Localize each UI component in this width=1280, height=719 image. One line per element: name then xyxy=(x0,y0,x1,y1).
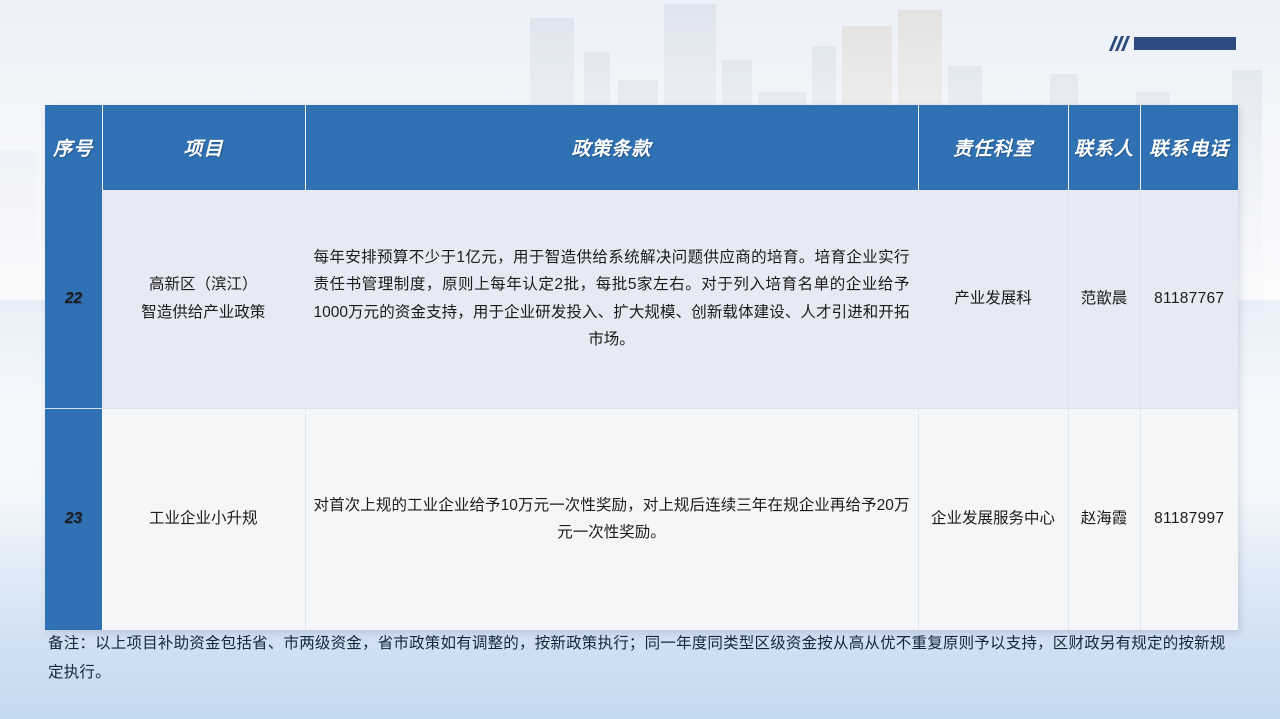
row-contact-phone: 81187767 xyxy=(1140,190,1238,408)
column-header-contact-phone: 联系电话 xyxy=(1140,105,1238,190)
navy-bar-icon xyxy=(1134,37,1236,50)
row-department: 企业发展服务中心 xyxy=(918,408,1068,630)
table-header-row: 序号 项目 政策条款 责任科室 联系人 联系电话 xyxy=(45,105,1238,190)
row-policy-terms: 每年安排预算不少于1亿元，用于智造供给系统解决问题供应商的培育。培育企业实行责任… xyxy=(305,190,918,408)
policy-table: 序号 项目 政策条款 责任科室 联系人 联系电话 22 高新区（滨江） 智造供给… xyxy=(45,105,1238,630)
slash-marks-icon xyxy=(1109,36,1130,51)
table-row: 23 工业企业小升规 对首次上规的工业企业给予10万元一次性奖励，对上规后连续三… xyxy=(45,408,1238,630)
column-header-seq: 序号 xyxy=(45,105,102,190)
table-header: 序号 项目 政策条款 责任科室 联系人 联系电话 xyxy=(45,105,1238,190)
row-department: 产业发展科 xyxy=(918,190,1068,408)
column-header-contact-person: 联系人 xyxy=(1068,105,1140,190)
project-name-line-2: 智造供给产业政策 xyxy=(141,304,265,321)
row-sequence-number: 22 xyxy=(45,190,102,408)
row-contact-person: 范歆晨 xyxy=(1068,190,1140,408)
row-project-name: 高新区（滨江） 智造供给产业政策 xyxy=(102,190,305,408)
column-header-policy: 政策条款 xyxy=(305,105,918,190)
column-header-department: 责任科室 xyxy=(918,105,1068,190)
table-body: 22 高新区（滨江） 智造供给产业政策 每年安排预算不少于1亿元，用于智造供给系… xyxy=(45,190,1238,630)
table-row: 22 高新区（滨江） 智造供给产业政策 每年安排预算不少于1亿元，用于智造供给系… xyxy=(45,190,1238,408)
row-project-name: 工业企业小升规 xyxy=(102,408,305,630)
corner-decoration xyxy=(1112,36,1236,51)
policy-table-container: 序号 项目 政策条款 责任科室 联系人 联系电话 22 高新区（滨江） 智造供给… xyxy=(45,105,1238,630)
row-contact-person: 赵海霞 xyxy=(1068,408,1140,630)
row-sequence-number: 23 xyxy=(45,408,102,630)
column-header-project: 项目 xyxy=(102,105,305,190)
footnote-remark: 备注：以上项目补助资金包括省、市两级资金，省市政策如有调整的，按新政策执行；同一… xyxy=(48,630,1238,687)
row-contact-phone: 81187997 xyxy=(1140,408,1238,630)
row-policy-terms: 对首次上规的工业企业给予10万元一次性奖励，对上规后连续三年在规企业再给予20万… xyxy=(305,408,918,630)
project-name-line-1: 高新区（滨江） xyxy=(149,276,258,293)
